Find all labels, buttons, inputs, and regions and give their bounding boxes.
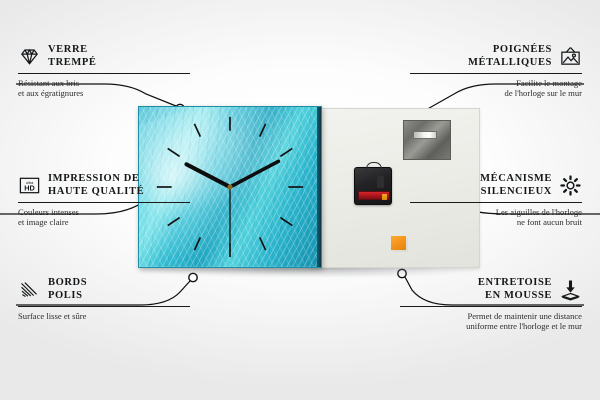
feature-mecanisme-silencieux: MÉCANISMESILENCIEUX Les aiguilles de l'h…: [410, 173, 582, 228]
feature-divider: [18, 306, 190, 307]
foam-spacer: [391, 236, 406, 250]
feature-subtitle: Les aiguilles de l'horlogene font aucun …: [410, 207, 582, 228]
feature-title: BORDSPOLIS: [48, 277, 87, 302]
feature-title: IMPRESSION DEHAUTE QUALITÉ: [48, 173, 144, 198]
infographic-canvas: VERRETREMPÉ Résistant aux briset aux égr…: [0, 0, 600, 400]
feature-impression-haute-qualite: ultra HD IMPRESSION DEHAUTE QUALITÉ Coul…: [18, 173, 190, 228]
feature-header: ENTRETOISEEN MOUSSE: [400, 277, 582, 302]
feature-title: ENTRETOISEEN MOUSSE: [478, 277, 552, 302]
metal-hanger-plate: [403, 120, 451, 160]
feature-subtitle: Résistant aux briset aux égratignures: [18, 78, 190, 99]
gear-icon: [559, 174, 582, 197]
minute-hand: [230, 161, 278, 187]
svg-text:HD: HD: [24, 183, 35, 192]
ultra-hd-icon: ultra HD: [18, 174, 41, 197]
wall-mount-frame-icon: [559, 45, 582, 68]
feature-header: MÉCANISMESILENCIEUX: [410, 173, 582, 198]
feature-header: BORDSPOLIS: [18, 277, 190, 302]
feature-subtitle: Surface lisse et sûre: [18, 311, 190, 322]
feature-header: ultra HD IMPRESSION DEHAUTE QUALITÉ: [18, 173, 190, 198]
feature-divider: [410, 202, 582, 203]
polished-edges-icon: [18, 278, 41, 301]
feature-divider: [18, 73, 190, 74]
feature-title: VERRETREMPÉ: [48, 44, 97, 69]
hanging-loop: [366, 162, 382, 171]
feature-divider: [400, 306, 582, 307]
mechanism-knob: [377, 176, 384, 188]
hour-hand: [186, 164, 230, 187]
feature-poignees-metalliques: POIGNÉESMÉTALLIQUES Facilite le montaged…: [410, 44, 582, 99]
battery: [358, 191, 390, 200]
feature-subtitle: Couleurs intenseset image claire: [18, 207, 190, 228]
center-pin: [227, 184, 232, 189]
feature-subtitle: Permet de maintenir une distanceuniforme…: [400, 311, 582, 332]
feature-entretoise-en-mousse: ENTRETOISEEN MOUSSE Permet de maintenir …: [400, 277, 582, 332]
feature-header: POIGNÉESMÉTALLIQUES: [410, 44, 582, 69]
feature-title: POIGNÉESMÉTALLIQUES: [468, 44, 552, 69]
feature-header: VERRETREMPÉ: [18, 44, 190, 69]
diamond-icon: [18, 45, 41, 68]
feature-divider: [18, 202, 190, 203]
feature-verre-trempe: VERRETREMPÉ Résistant aux briset aux égr…: [18, 44, 190, 99]
glass-edge: [317, 107, 322, 268]
foam-spacer-icon: [559, 278, 582, 301]
clock-mechanism: [354, 167, 392, 205]
feature-title: MÉCANISMESILENCIEUX: [480, 173, 552, 198]
feature-subtitle: Facilite le montagede l'horloge sur le m…: [410, 78, 582, 99]
feature-divider: [410, 73, 582, 74]
feature-bords-polis: BORDSPOLIS Surface lisse et sûre: [18, 277, 190, 321]
